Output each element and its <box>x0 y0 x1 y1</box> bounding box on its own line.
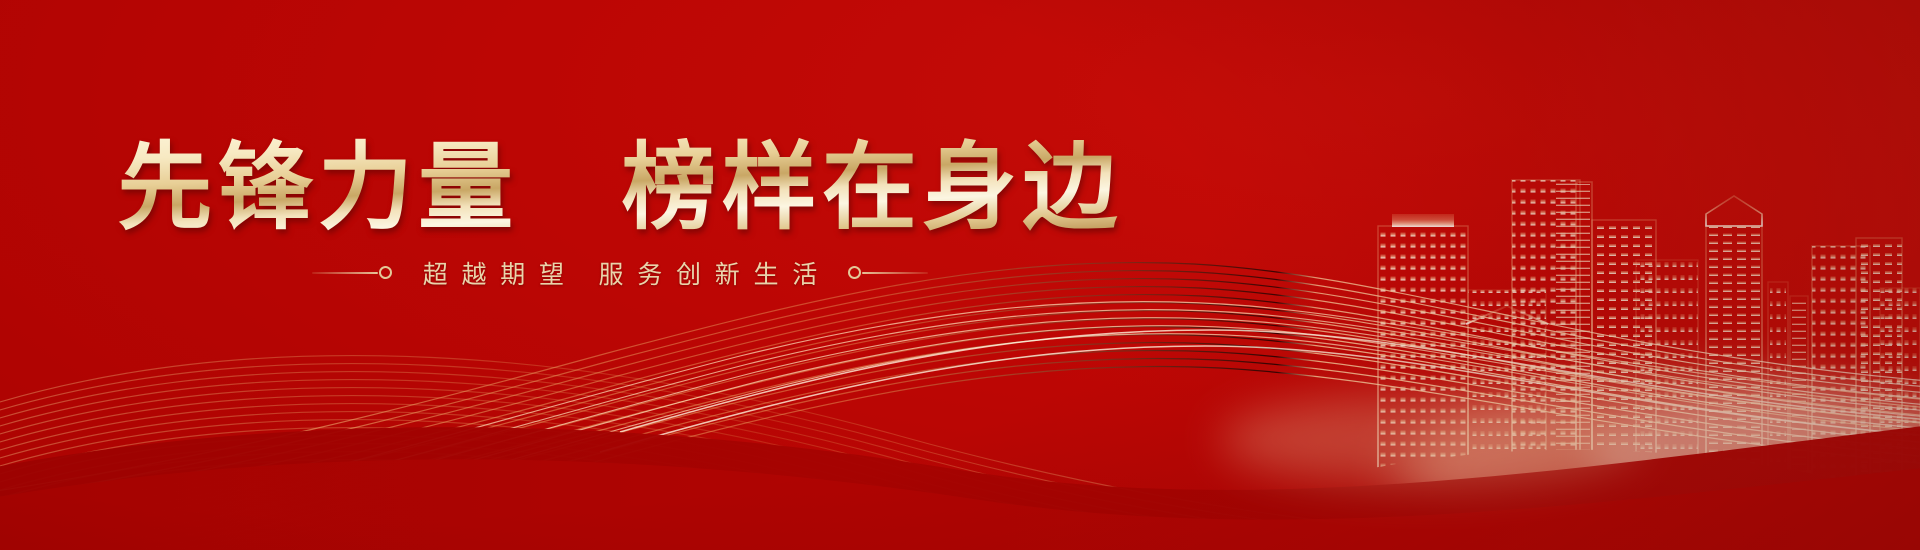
ornament-ring-left <box>379 266 392 279</box>
headline-part-2: 榜样在身边 <box>621 135 1122 241</box>
ornament-ring-right <box>848 266 861 279</box>
dot-line-ornament <box>847 266 928 279</box>
subtitle-row: 超越期望 服务创新生活 <box>0 255 1240 291</box>
hero-banner: 先锋力量 榜样在身边 超越期望 服务创新生活 <box>0 0 1920 550</box>
ornament-bar-right <box>862 272 928 274</box>
page-subtitle: 超越期望 服务创新生活 <box>409 255 831 291</box>
ornament-bar-left <box>312 272 378 274</box>
line-dot-ornament <box>312 266 393 279</box>
headline-part-1: 先锋力量 <box>117 135 518 241</box>
page-title: 先锋力量 榜样在身边 <box>0 138 1240 239</box>
headline-block: 先锋力量 榜样在身边 超越期望 服务创新生活 <box>0 138 1240 291</box>
